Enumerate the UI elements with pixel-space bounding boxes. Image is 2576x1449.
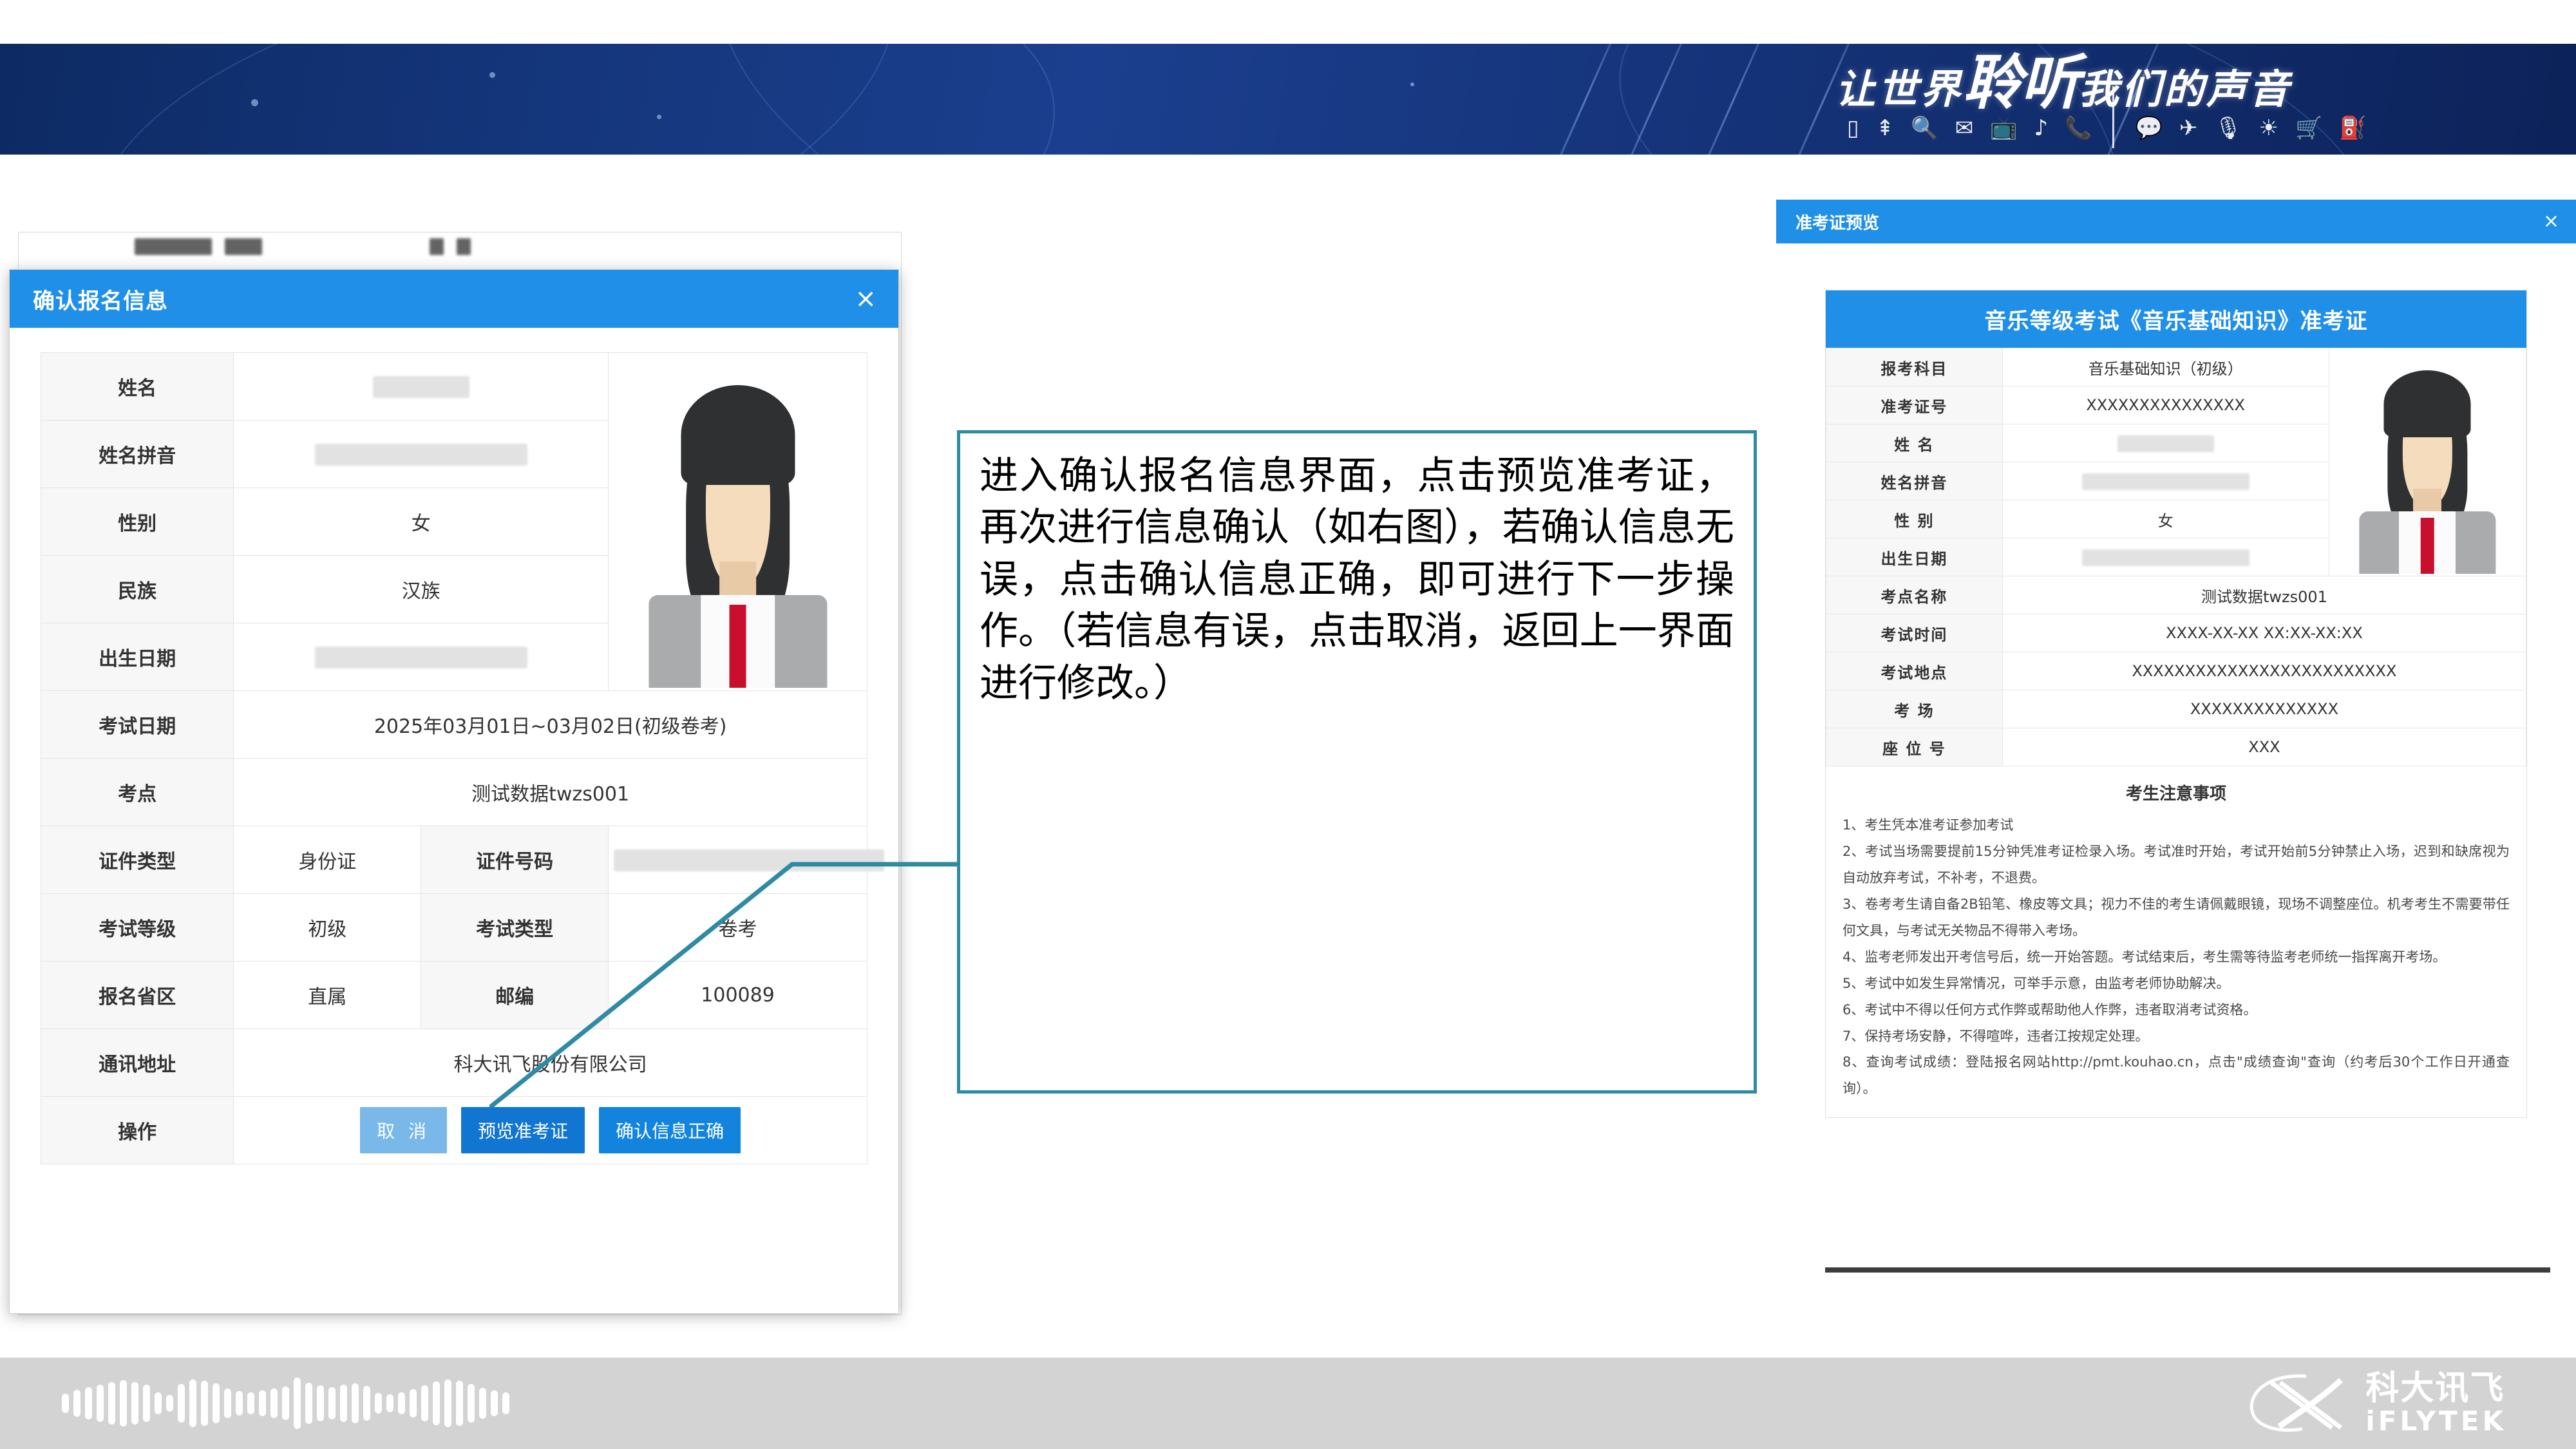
ticket-label-ticket-no: 准考证号: [1826, 386, 2003, 424]
row-value-birthdate: [234, 623, 609, 691]
row-value-id-number: [609, 826, 867, 894]
telephone-icon: 📞: [2065, 117, 2092, 139]
ticket-label-seat-no: 座 位 号: [1826, 728, 2003, 766]
notice-item: 2、考试当场需要提前15分钟凭准考证检录入场。考试准时开始，考试开始前5分钟禁止…: [1842, 838, 2510, 891]
avatar-tie: [729, 605, 746, 688]
table-row: 通讯地址 科大讯飞股份有限公司: [41, 1029, 867, 1097]
preview-footer-rule: [1825, 1267, 2550, 1273]
notice-item: 7、保持考场安静，不得喧哗，违者江按规定处理。: [1842, 1023, 2510, 1050]
table-row: 报名省区 直属 邮编 100089: [41, 961, 867, 1029]
row-value-postcode: 100089: [609, 961, 867, 1029]
row-value-address: 科大讯飞股份有限公司: [234, 1029, 867, 1097]
row-value-name: [234, 353, 609, 421]
row-label-ethnicity: 民族: [41, 556, 234, 623]
banner-slogan-part2: 我们的声音: [2079, 66, 2291, 113]
row-value-exam-date: 2025年03月01日~03月02日(初级卷考): [234, 691, 867, 759]
preview-admission-ticket-button[interactable]: 预览准考证: [461, 1107, 585, 1153]
row-label-exam-date: 考试日期: [41, 691, 234, 759]
iflytek-logo: 科大讯飞 iFLYTEK: [2247, 1372, 2506, 1435]
notice-list: 1、考生凭本准考证参加考试 2、考试当场需要提前15分钟凭准考证检录入场。考试准…: [1826, 812, 2526, 1117]
candidate-photo-cell: [609, 353, 867, 691]
ticket-label-subject: 报考科目: [1826, 348, 2003, 386]
row-value-exam-type: 卷考: [609, 894, 867, 961]
top-banner: 让世界聆听我们的声音 ▯ ⇞ 🔍 ✉ 📺 ♪ 📞 💬 ✈ 🎙 ☀ 🛒 ⛽: [0, 44, 2576, 155]
notice-item: 3、卷考考生请自备2B铅笔、橡皮等文具；视力不佳的考生请佩戴眼镜，现场不调整座位…: [1842, 891, 2510, 944]
tv-icon: 📺: [1990, 117, 2017, 139]
row-value-exam-level: 初级: [234, 894, 421, 961]
ticket-label-site-name: 考点名称: [1826, 576, 2003, 614]
ticket-value-ticket-no: XXXXXXXXXXXXXXX: [2002, 386, 2329, 424]
redacted-value: [373, 376, 469, 398]
row-value-id-type: 身份证: [234, 826, 421, 894]
ticket-value-exam-place: XXXXXXXXXXXXXXXXXXXXXXXXX: [2002, 652, 2526, 690]
avatar: [2333, 350, 2522, 574]
dialog-header: 确认报名信息 ×: [10, 270, 898, 328]
row-label-exam-type: 考试类型: [421, 894, 609, 961]
ticket-label-exam-place: 考试地点: [1826, 652, 2003, 690]
banner-slogan-part1: 让世界: [1835, 66, 1963, 113]
row-value-exam-site: 测试数据twzs001: [234, 759, 867, 826]
row-label-exam-level: 考试等级: [41, 894, 234, 961]
notice-item: 1、考生凭本准考证参加考试: [1842, 812, 2510, 838]
logo-text-cn: 科大讯飞: [2365, 1372, 2506, 1405]
audio-waveform: [62, 1376, 509, 1431]
ticket-label-name: 姓 名: [1826, 424, 2003, 462]
ticket-info-table: 报考科目 音乐基础知识（初级）: [1826, 348, 2526, 766]
banner-divider: [2112, 86, 2114, 148]
table-row: 姓名: [41, 353, 867, 421]
row-label-name: 姓名: [41, 353, 234, 421]
table-row: 报考科目 音乐基础知识（初级）: [1826, 348, 2526, 386]
music-note-icon: ♪: [2034, 117, 2048, 139]
airplane-icon: ✈: [2179, 117, 2198, 139]
row-label-gender: 性别: [41, 488, 234, 556]
ticket-label-exam-time: 考试时间: [1826, 614, 2003, 652]
ticket-photo-cell: [2329, 348, 2526, 576]
notice-item: 6、考试中不得以任何方式作弊或帮助他人作弊，违者取消考试资格。: [1842, 997, 2510, 1023]
ticket-label-pinyin: 姓名拼音: [1826, 462, 2003, 500]
banner-dot-4: [1410, 82, 1414, 86]
background-form-extra-chip: [430, 238, 444, 255]
banner-slogan-emphasis: 聆听: [1963, 48, 2079, 117]
confirm-info-button[interactable]: 确认信息正确: [599, 1107, 741, 1153]
logo-text-en: iFLYTEK: [2365, 1408, 2506, 1435]
cancel-button[interactable]: 取 消: [360, 1107, 447, 1153]
redacted-value: [2082, 549, 2249, 566]
preview-header: 准考证预览 ×: [1776, 200, 2576, 243]
banner-dot-2: [657, 115, 661, 119]
banner-slogan: 让世界聆听我们的声音: [1835, 53, 2518, 112]
phone-icon: ▯: [1847, 117, 1859, 139]
row-value-pinyin: [234, 421, 609, 488]
row-label-pinyin: 姓名拼音: [41, 421, 234, 488]
confirm-registration-dialog: 确认报名信息 × 姓名: [9, 269, 899, 1314]
registration-info-table: 姓名: [41, 352, 867, 1164]
redacted-value: [2082, 473, 2249, 490]
ticket-value-seat-no: XXX: [2002, 728, 2526, 766]
ticket-value-name: [2002, 424, 2329, 462]
notice-item: 5、考试中如发生异常情况，可举手示意，由监考老师协助解决。: [1842, 971, 2510, 997]
dialog-title: 确认报名信息: [33, 283, 168, 315]
table-row: 考试等级 初级 考试类型 卷考: [41, 894, 867, 961]
avatar-fringe: [681, 385, 795, 485]
ticket-value-subject: 音乐基础知识（初级）: [2002, 348, 2329, 386]
row-value-actions: 取 消 预览准考证 确认信息正确: [234, 1097, 867, 1164]
redacted-value: [2117, 435, 2214, 452]
table-row: 操作 取 消 预览准考证 确认信息正确: [41, 1097, 867, 1164]
redacted-value: [614, 849, 884, 871]
notice-title: 考生注意事项: [1826, 781, 2526, 804]
ticket-value-site-name: 测试数据twzs001: [2002, 576, 2526, 614]
row-label-id-type: 证件类型: [41, 826, 234, 894]
search-icon: 🔍: [1911, 117, 1938, 139]
background-form-label-chip: [135, 238, 212, 255]
ticket-value-birthdate: [2002, 538, 2329, 576]
avatar: [614, 355, 862, 688]
background-form-extra-chip-2: [457, 238, 471, 255]
table-row: 考点名称 测试数据twzs001: [1826, 576, 2526, 614]
banner-brand-block: 让世界聆听我们的声音 ▯ ⇞ 🔍 ✉ 📺 ♪ 📞 💬 ✈ 🎙 ☀ 🛒 ⛽: [1816, 44, 2576, 155]
row-label-province: 报名省区: [41, 961, 234, 1029]
ticket-label-birthdate: 出生日期: [1826, 538, 2003, 576]
banner-dot-3: [251, 99, 258, 106]
iflytek-logo-text: 科大讯飞 iFLYTEK: [2365, 1372, 2506, 1435]
notice-item: 4、监考老师发出开考信号后，统一开始答题。考试结束后，考生需等待监考老师统一指挥…: [1842, 944, 2510, 971]
mail-icon: ✉: [1955, 117, 1974, 139]
avatar-fringe: [2384, 370, 2471, 437]
admission-ticket-preview-panel: 准考证预览 × 音乐等级考试《音乐基础知识》准考证 报考科目 音乐基础知识（初级…: [1776, 200, 2576, 1352]
row-label-actions: 操作: [41, 1097, 234, 1164]
ticket-value-exam-time: XXXX-XX-XX XX:XX-XX:XX: [2002, 614, 2526, 652]
notice-item: 8、查询考试成绩：登陆报名网站http://pmt.kouhao.cn，点击"成…: [1842, 1049, 2510, 1102]
close-icon[interactable]: ×: [855, 286, 876, 312]
dialog-body: 姓名: [10, 328, 898, 1184]
page-footer: 科大讯飞 iFLYTEK: [0, 1358, 2576, 1449]
row-label-birthdate: 出生日期: [41, 623, 234, 691]
shopping-cart-icon: 🛒: [2295, 117, 2322, 139]
row-label-exam-site: 考点: [41, 759, 234, 826]
table-row: 考试日期 2025年03月01日~03月02日(初级卷考): [41, 691, 867, 759]
dialog-action-buttons: 取 消 预览准考证 确认信息正确: [239, 1107, 862, 1153]
annotation-text: 进入确认报名信息界面，点击预览准考证，再次进行信息确认（如右图），若确认信息无误…: [980, 450, 1734, 709]
row-label-address: 通讯地址: [41, 1029, 234, 1097]
ticket-value-exam-room: XXXXXXXXXXXXXX: [2002, 690, 2526, 728]
banner-icon-row: ▯ ⇞ 🔍 ✉ 📺 ♪ 📞 💬 ✈ 🎙 ☀ 🛒 ⛽: [1847, 108, 2504, 148]
close-icon[interactable]: ×: [2543, 212, 2559, 231]
avatar-tie: [2421, 518, 2434, 574]
background-form-row: [19, 232, 1017, 261]
banner-dot-1: [489, 72, 495, 78]
table-row: 考 场 XXXXXXXXXXXXXX: [1826, 690, 2526, 728]
row-value-gender: 女: [234, 488, 609, 556]
table-row: 考试地点 XXXXXXXXXXXXXXXXXXXXXXXXX: [1826, 652, 2526, 690]
row-label-postcode: 邮编: [421, 961, 609, 1029]
fuel-pump-icon: ⛽: [2339, 117, 2366, 139]
row-value-province: 直属: [234, 961, 421, 1029]
ticket-title: 音乐等级考试《音乐基础知识》准考证: [1826, 290, 2526, 348]
microphone-icon: 🎙: [2214, 117, 2242, 139]
ticket-label-gender: 性 别: [1826, 500, 2003, 538]
chat-icon: 💬: [2135, 117, 2162, 139]
iflytek-logo-icon: [2247, 1372, 2350, 1434]
annotation-callout: 进入确认报名信息界面，点击预览准考证，再次进行信息确认（如右图），若确认信息无误…: [957, 430, 1757, 1094]
ticket-value-gender: 女: [2002, 500, 2329, 538]
ticket-label-exam-room: 考 场: [1826, 690, 2003, 728]
table-row: 考点 测试数据twzs001: [41, 759, 867, 826]
admission-ticket-card: 音乐等级考试《音乐基础知识》准考证 报考科目 音乐基础知识（初级）: [1825, 290, 2527, 1118]
preview-title: 准考证预览: [1795, 210, 1879, 234]
row-label-id-number: 证件号码: [421, 826, 609, 894]
row-value-ethnicity: 汉族: [234, 556, 609, 623]
redacted-value: [315, 647, 527, 668]
signal-icon: ⇞: [1876, 117, 1895, 139]
table-row: 考试时间 XXXX-XX-XX XX:XX-XX:XX: [1826, 614, 2526, 652]
redacted-value: [315, 444, 527, 466]
table-row: 证件类型 身份证 证件号码: [41, 826, 867, 894]
ticket-value-pinyin: [2002, 462, 2329, 500]
background-form-value-chip: [225, 238, 262, 255]
table-row: 座 位 号 XXX: [1826, 728, 2526, 766]
sun-icon: ☀: [2259, 117, 2278, 139]
